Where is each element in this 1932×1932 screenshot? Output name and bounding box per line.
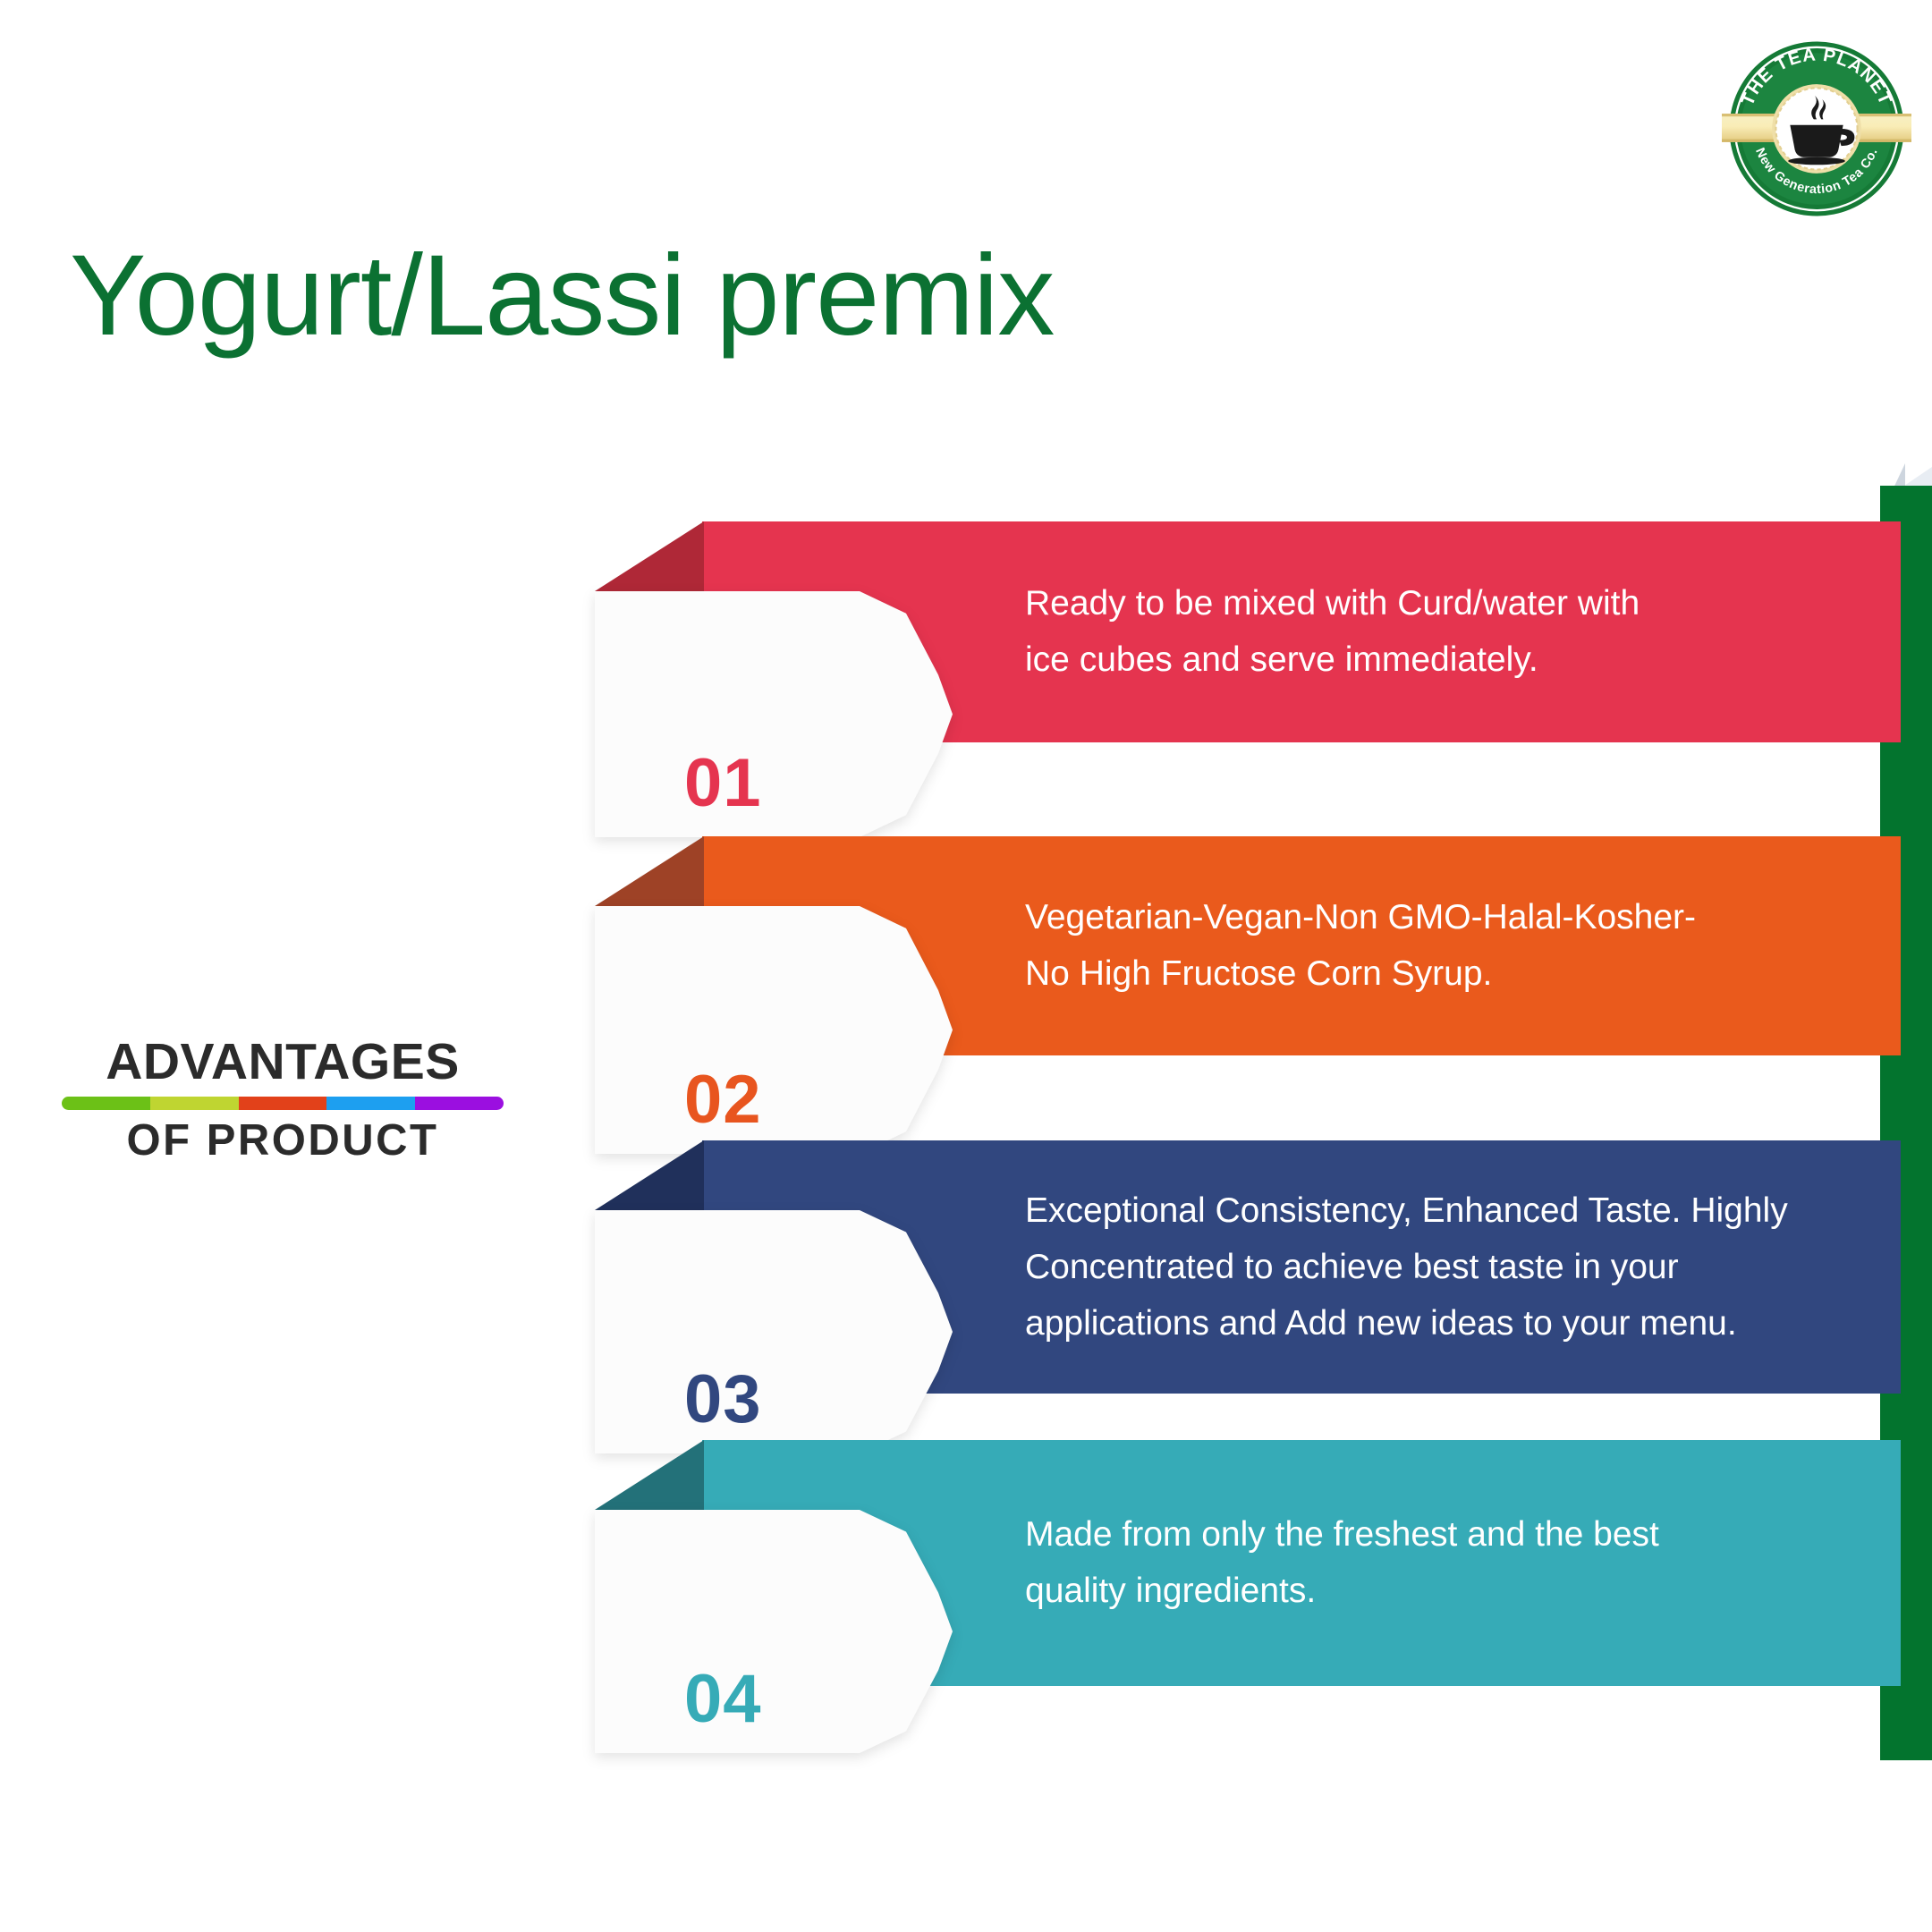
banner-row: 02Vegetarian-Vegan-Non GMO-Halal-Kosher-… — [0, 836, 1932, 1154]
banner-number-card-shape: 03 — [595, 1210, 953, 1453]
banner-number-card: 04 — [595, 1510, 953, 1753]
banner-number: 04 — [684, 1665, 762, 1733]
banner-fold-corner — [595, 521, 704, 591]
banner-fold-corner — [595, 836, 704, 906]
banner-text: Exceptional Consistency, Enhanced Taste.… — [1025, 1182, 1866, 1352]
banner-fold-corner — [595, 1140, 704, 1210]
banner-row: 03Exceptional Consistency, Enhanced Tast… — [0, 1140, 1932, 1453]
slide-canvas: THE TEA PLANET New Generation Tea Co. Yo… — [0, 0, 1932, 1932]
banner-text: Ready to be mixed with Curd/water with i… — [1025, 575, 1866, 688]
banner-number-card: 03 — [595, 1210, 953, 1453]
banner-fold-corner — [595, 1440, 704, 1510]
banner-number-card: 02 — [595, 906, 953, 1154]
banner-row: 04Made from only the freshest and the be… — [0, 1440, 1932, 1753]
banner-text: Vegetarian-Vegan-Non GMO-Halal-Kosher- N… — [1025, 889, 1866, 1002]
the-tea-planet-logo: THE TEA PLANET New Generation Tea Co. — [1722, 34, 1911, 224]
banner-number: 02 — [684, 1066, 762, 1134]
page-title: Yogurt/Lassi premix — [70, 234, 1054, 358]
banner-number-card-shape: 04 — [595, 1510, 953, 1753]
banner-number: 03 — [684, 1366, 762, 1434]
banner-number-card-shape: 02 — [595, 906, 953, 1154]
banner-text: Made from only the freshest and the best… — [1025, 1506, 1866, 1619]
banner-row: 01Ready to be mixed with Curd/water with… — [0, 521, 1932, 837]
banner-number-card-shape: 01 — [595, 591, 953, 837]
banner-number: 01 — [684, 750, 762, 818]
banner-number-card: 01 — [595, 591, 953, 837]
